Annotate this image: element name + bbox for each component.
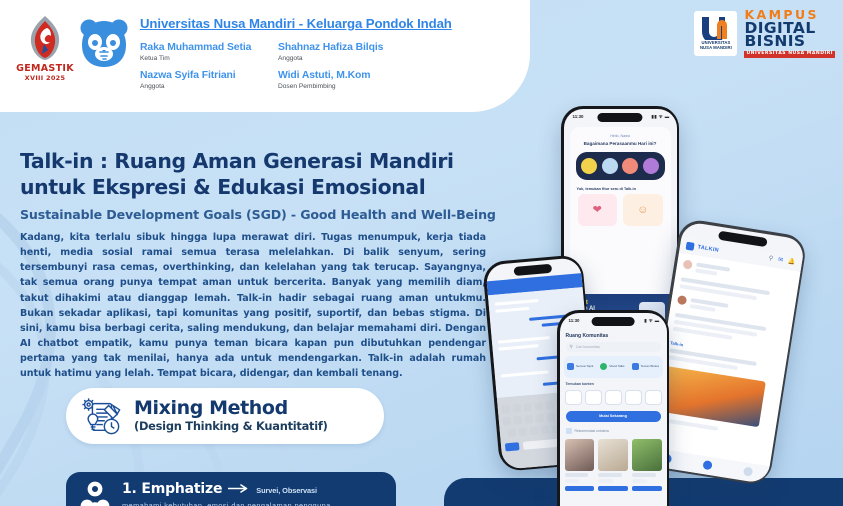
arrow-right-icon (228, 484, 250, 493)
gemastik-edition: XVIII 2025 (25, 74, 66, 82)
phone-d-cta-button[interactable]: Mulai Sekarang (566, 411, 661, 422)
sponsor-logos: UNIVERSITAS NUSA MANDIRI KAMPUS DIGITAL … (694, 9, 835, 58)
phone-notch (592, 317, 635, 326)
mixing-method-title: Mixing Method (134, 399, 328, 419)
member-role: Ketua Tim (140, 55, 278, 62)
panda-face-icon (78, 18, 130, 70)
team-info: Universitas Nusa Mandiri - Keluarga Pond… (140, 16, 480, 90)
page-title-line-2: untuk Ekspresi & Edukasi Emosional (20, 174, 520, 200)
member-3: Widi Astuti, M.Kom Dosen Pembimbing (278, 70, 480, 90)
member-name: Raka Muhammad Setia (140, 42, 278, 54)
member-0: Raka Muhammad Setia Ketua Tim (140, 42, 278, 62)
topic-card[interactable] (605, 390, 622, 405)
phone-a-card-chat[interactable]: ❤ (578, 194, 618, 226)
status-icons: ▮▮ ᯤ ▬ (651, 114, 669, 120)
phone-d-screen: 11:30 ▮ ᯤ ▬ Ruang Komunitas ⚲ Cari komun… (560, 313, 667, 506)
status-time: 11:30 (569, 318, 580, 323)
kampus-digital-bisnis-logo: KAMPUS DIGITAL BISNIS UNIVERSITAS NUSA M… (744, 9, 835, 58)
phone-d-search-placeholder: Cari komunitas (576, 345, 600, 349)
phone-notch (597, 113, 642, 122)
talkin-logo-icon (685, 241, 694, 250)
gemastik-flame-icon (20, 14, 70, 62)
topic-card[interactable] (585, 390, 602, 405)
gemastik-wordmark: GEMASTIK (16, 63, 74, 74)
explore-icon[interactable] (702, 460, 712, 470)
phone-d-title: Ruang Komunitas (566, 333, 609, 339)
topic-card[interactable] (625, 390, 642, 405)
phone-d-chip-row[interactable]: Semua Topik Mood Talks Teman Bicara (564, 356, 663, 378)
page-subtitle: Sustainable Development Goals (SGD) - Go… (20, 207, 520, 222)
step-tag: Survei, Observasi (256, 486, 317, 495)
status-time: 11:30 (573, 114, 584, 119)
search-icon: ⚲ (570, 344, 573, 350)
list-icon (566, 428, 572, 434)
poster-canvas: GEMASTIK XVIII 2025 Universitas Nusa Man… (0, 0, 843, 506)
phone-mockup-d: 11:30 ▮ ᯤ ▬ Ruang Komunitas ⚲ Cari komun… (557, 310, 669, 506)
list-item[interactable] (598, 439, 628, 491)
mood-calm-icon[interactable] (602, 158, 618, 174)
member-1: Shahnaz Hafiza Bilqis Anggota (278, 42, 480, 62)
phone-a-card-row: ❤ ☺ (570, 194, 671, 226)
gemastik-logo: GEMASTIK XVIII 2025 (12, 14, 78, 88)
phone-c-feed: Talk-in (648, 252, 800, 466)
phone-a-section-label: Yuk, temukan fitur seru di Talk-in (577, 187, 671, 191)
phone-a-card-mood[interactable]: ☺ (623, 194, 663, 226)
topic-card[interactable] (565, 390, 582, 405)
unm-caption: UNIVERSITAS NUSA MANDIRI (700, 41, 732, 51)
unm-logo: UNIVERSITAS NUSA MANDIRI (694, 11, 737, 56)
page-title-line-1: Talk-in : Ruang Aman Generasi Mandiri (20, 148, 520, 174)
mood-happy-icon[interactable] (581, 158, 597, 174)
phone-d-card-row[interactable] (565, 439, 662, 491)
phone-d-list-label: Rekomendasi untukmu (566, 428, 610, 434)
university-name[interactable]: Universitas Nusa Mandiri - Keluarga Pond… (140, 16, 480, 31)
mixing-method-subtitle: (Design Thinking & Kuantitatif) (134, 419, 328, 433)
member-role: Anggota (278, 55, 480, 62)
profile-icon[interactable] (742, 466, 752, 476)
phone-d-search[interactable]: ⚲ Cari komunitas (566, 342, 661, 352)
status-icons: ▮ ᯤ ▬ (644, 318, 659, 324)
search-icon[interactable]: ⚲ (768, 255, 773, 263)
step-description: memahami kebutuhan, emosi dan pengalaman… (122, 501, 331, 506)
member-name: Widi Astuti, M.Kom (278, 70, 480, 82)
member-role: Dosen Pembimbing (278, 83, 480, 90)
list-item[interactable] (565, 439, 595, 491)
step-text: 1. Emphatize Survei, Observasi memahami … (122, 481, 331, 506)
list-item[interactable] (632, 439, 662, 491)
mood-sad-icon[interactable] (622, 158, 638, 174)
body-paragraph: Kadang, kita terlalu sibuk hingga lupa m… (20, 230, 486, 381)
bell-icon[interactable]: 🔔 (787, 258, 795, 266)
step-header: 1. Emphatize Survei, Observasi (122, 481, 331, 497)
step-number-label: 1. Emphatize (122, 481, 222, 497)
chip-semua-topik[interactable]: Semua Topik (567, 363, 593, 370)
mixing-method-text: Mixing Method (Design Thinking & Kuantit… (134, 399, 328, 434)
member-role: Anggota (140, 83, 278, 90)
title-block: Talk-in : Ruang Aman Generasi Mandiri un… (20, 148, 520, 222)
member-grid: Raka Muhammad Setia Ketua Tim Shahnaz Ha… (140, 42, 480, 90)
avatar (682, 259, 692, 269)
phone-d-section-label: Temukan konten (566, 382, 594, 386)
mixing-method-badge: Mixing Method (Design Thinking & Kuantit… (66, 388, 384, 444)
step-emphatize: 1. Emphatize Survei, Observasi memahami … (66, 472, 396, 506)
kdb-line-3: BISNIS (744, 34, 835, 50)
member-name: Nazwa Syifa Fitriani (140, 70, 278, 82)
message-icon[interactable]: ✉ (778, 256, 784, 264)
phone-d-topic-row[interactable] (565, 390, 662, 405)
member-name: Shahnaz Hafiza Bilqis (278, 42, 480, 54)
phone-a-mood-selector[interactable] (576, 152, 665, 180)
topic-card[interactable] (645, 390, 662, 405)
phone-mockups: 11:30 ▮▮ ᯤ ▬ Hello, Nawa Bagaimana Peras… (533, 100, 843, 460)
chip-teman-bicara[interactable]: Teman Bicara (632, 363, 659, 370)
phone-c-brand: TALKIN (697, 244, 719, 253)
avatar (677, 294, 687, 304)
unm-monogram-icon (701, 16, 731, 40)
phone-notch (513, 263, 552, 275)
users-group-icon (80, 481, 110, 506)
method-gear-document-bulb-clock-icon (80, 396, 122, 436)
phone-a-greeting: Bagaimana Perasaanmu Hari ini? (570, 141, 671, 146)
mood-angry-icon[interactable] (643, 158, 659, 174)
chip-mood-talks[interactable]: Mood Talks (600, 363, 624, 370)
kdb-line-4: UNIVERSITAS NUSA MANDIRI (744, 51, 835, 59)
member-2: Nazwa Syifa Fitriani Anggota (140, 70, 278, 90)
phone-a-greeting-small: Hello, Nawa (570, 134, 671, 138)
